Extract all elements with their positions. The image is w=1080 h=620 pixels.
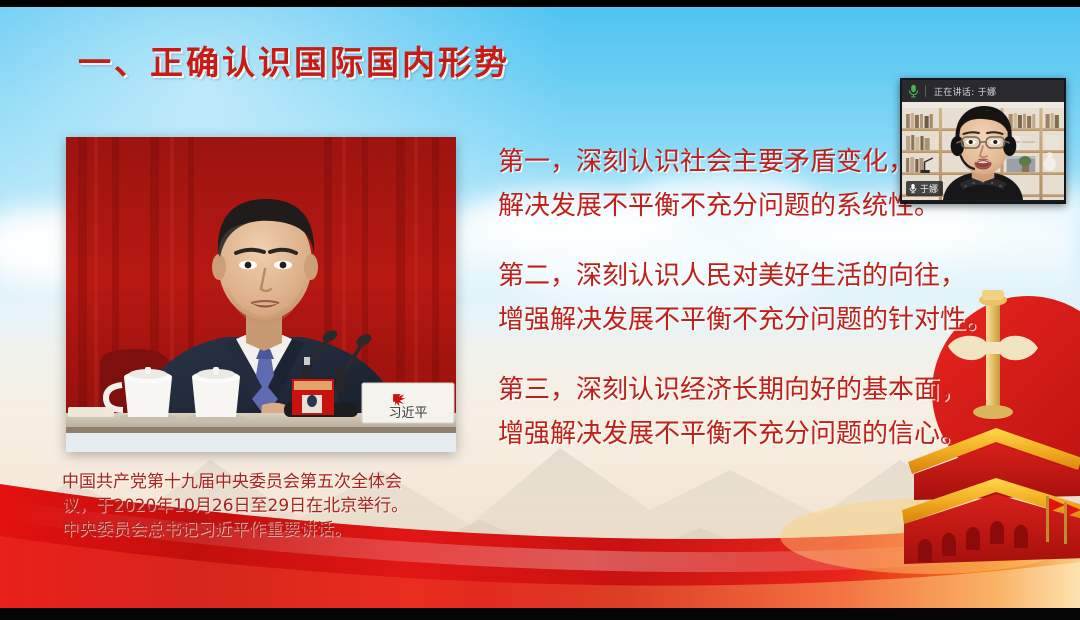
point-three: 第三，深刻认识经济长期向好的基本面， 增强解决发展不平衡不充分问题的信心。 xyxy=(498,368,1073,456)
microphone-icon xyxy=(909,183,917,194)
nameplate: 习近平 xyxy=(362,383,454,423)
caption-line: 中国共产党第十九届中央委员会第五次全体会 xyxy=(62,470,492,494)
letterbox-bottom xyxy=(0,608,1080,620)
participant-name-tag: 于娜 xyxy=(906,181,943,196)
presentation-slide: 一、正确认识国际国内形势 xyxy=(0,0,1080,620)
point-two-line-2: 增强解决发展不平衡不充分问题的针对性。 xyxy=(498,298,1073,342)
photo-caption: 中国共产党第十九届中央委员会第五次全体会 议，于2020年10月26日至29日在… xyxy=(62,470,492,542)
video-feed[interactable]: 于娜 xyxy=(902,102,1064,200)
header-divider xyxy=(925,85,926,97)
page-title: 一、正确认识国际国内形势 xyxy=(78,36,510,84)
caption-line: 中央委员会总书记习近平作重要讲话。 xyxy=(62,518,492,542)
microphone-icon xyxy=(908,84,919,98)
participant-name: 于娜 xyxy=(920,182,938,195)
video-conference-overlay[interactable]: 正在讲话: 于娜 xyxy=(900,78,1066,204)
point-two-line-1: 第二，深刻认识人民对美好生活的向往， xyxy=(498,254,1073,298)
xi-jinping-speech-photo: 习近平 xyxy=(66,137,456,452)
caption-line: 议，于2020年10月26日至29日在北京举行。 xyxy=(62,494,492,518)
svg-text:习近平: 习近平 xyxy=(388,406,427,421)
point-two: 第二，深刻认识人民对美好生活的向往， 增强解决发展不平衡不充分问题的针对性。 xyxy=(498,254,1073,342)
letterbox-top xyxy=(0,0,1080,7)
point-three-line-2: 增强解决发展不平衡不充分问题的信心。 xyxy=(498,412,1073,456)
video-header-bar: 正在讲话: 于娜 xyxy=(902,80,1064,102)
speaking-status-label: 正在讲话: 于娜 xyxy=(934,85,996,98)
point-three-line-1: 第三，深刻认识经济长期向好的基本面， xyxy=(498,368,1073,412)
